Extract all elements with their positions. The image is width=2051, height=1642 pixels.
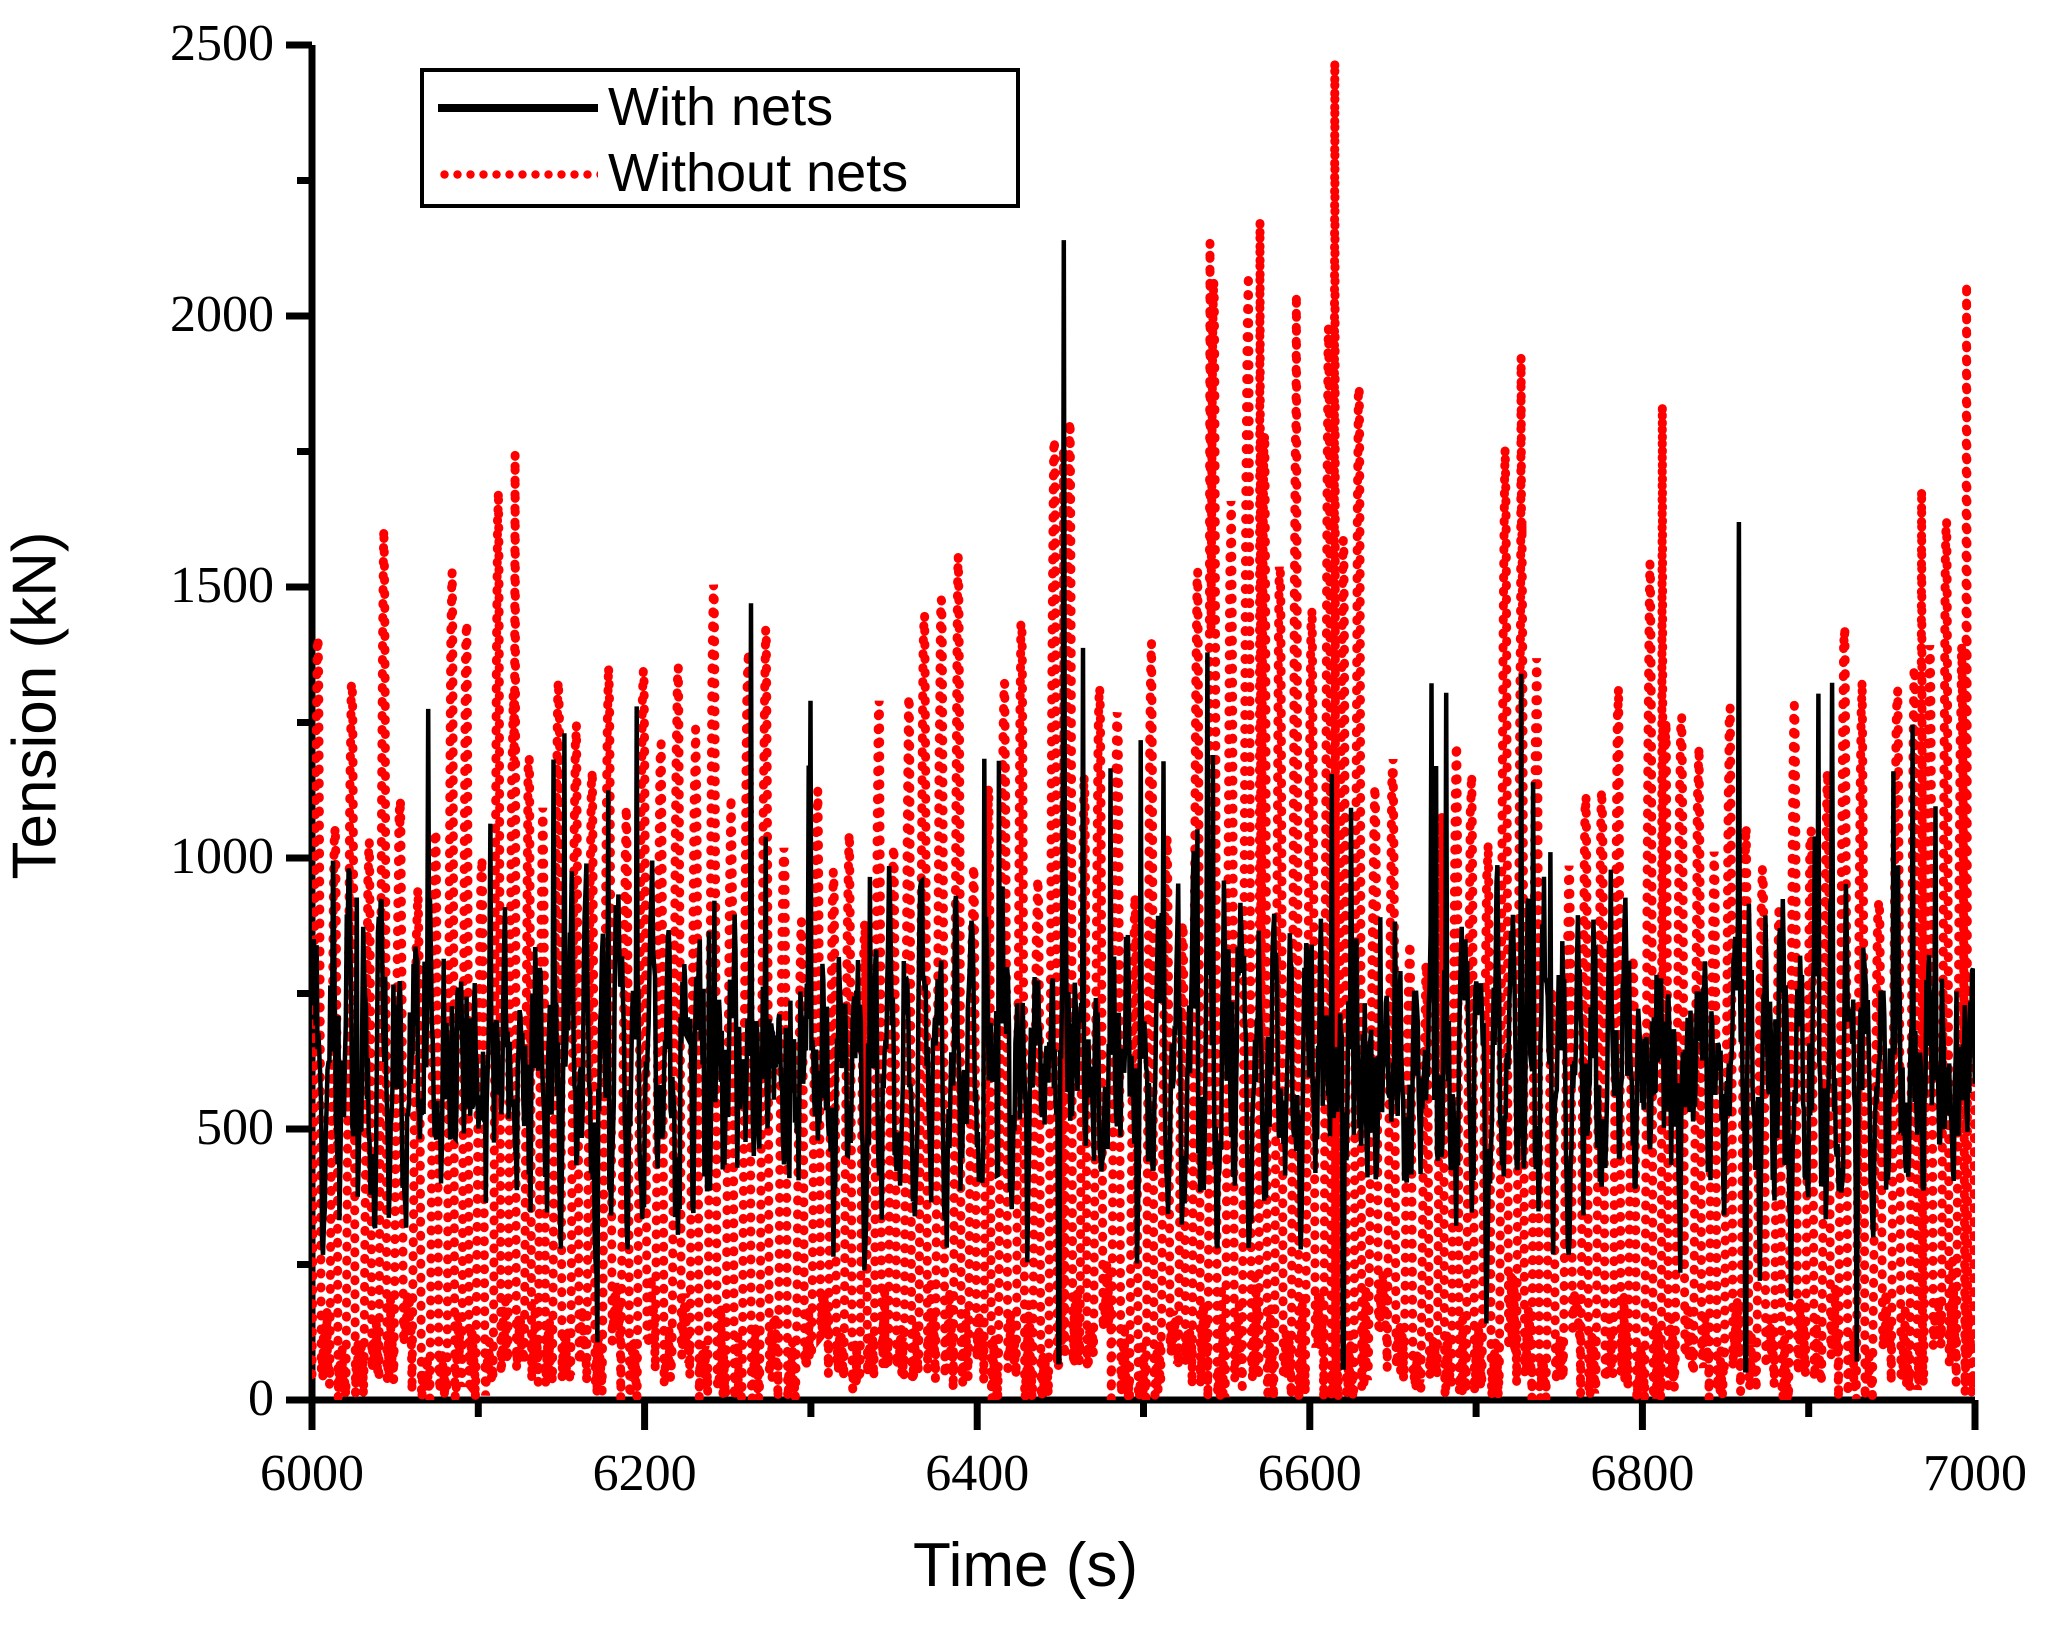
y-tick-label: 0	[12, 1373, 274, 1425]
legend-label-with-nets: With nets	[608, 80, 833, 134]
chart-canvas	[0, 0, 2051, 1642]
x-axis-title: Time (s)	[0, 1530, 2051, 1601]
y-tick-label: 2500	[12, 18, 274, 70]
x-tick-label: 6400	[827, 1448, 1127, 1500]
y-tick-label: 500	[12, 1102, 274, 1154]
legend-key-solid-line-icon	[438, 92, 598, 122]
legend: With nets Without nets	[420, 68, 1020, 208]
x-tick-label: 6000	[162, 1448, 462, 1500]
x-tick-label: 6600	[1160, 1448, 1460, 1500]
plot-area	[0, 0, 2051, 1642]
legend-item-without-nets: Without nets	[424, 138, 1016, 208]
y-axis-title: Tension (kN)	[0, 356, 71, 1056]
x-tick-label: 6200	[495, 1448, 795, 1500]
chart-root: 05001000150020002500 6000620064006600680…	[0, 0, 2051, 1642]
y-tick-label: 2000	[12, 289, 274, 341]
legend-label-without-nets: Without nets	[608, 146, 908, 200]
legend-item-with-nets: With nets	[424, 72, 1016, 142]
x-tick-label: 6800	[1492, 1448, 1792, 1500]
legend-key-dotted-line-icon	[438, 158, 598, 188]
x-tick-label: 7000	[1825, 1448, 2051, 1500]
